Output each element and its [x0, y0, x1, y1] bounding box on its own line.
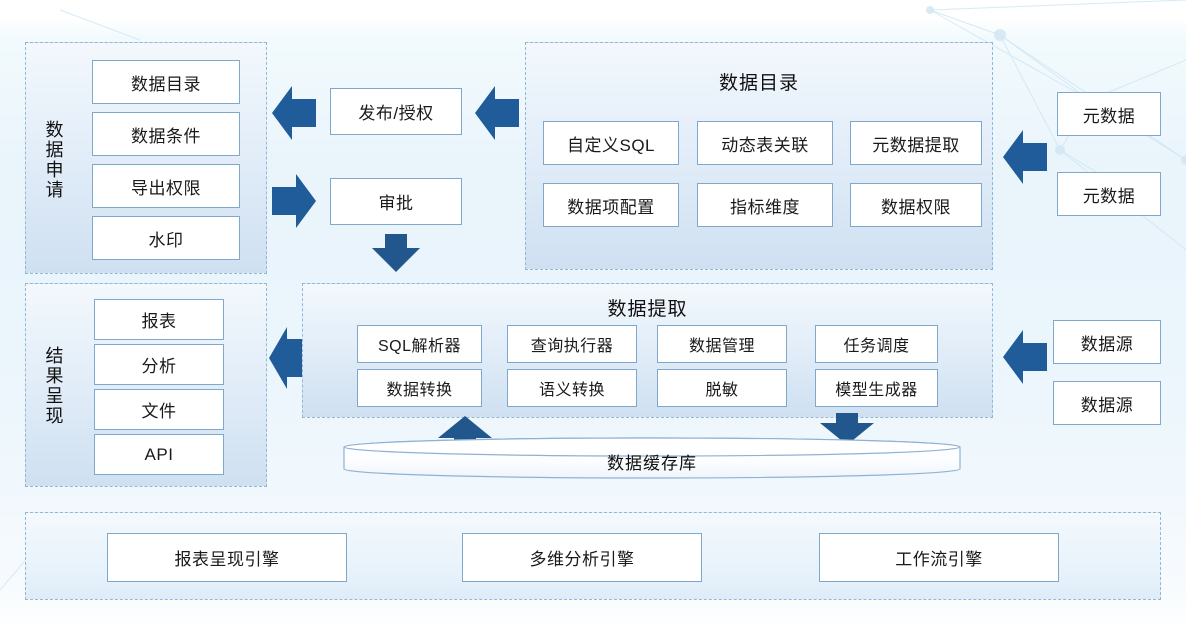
data-source-1[interactable]: 数据源 [1053, 320, 1161, 364]
data-catalog-item-data-field-config[interactable]: 数据项配置 [543, 183, 679, 227]
data-source-2[interactable]: 数据源 [1053, 381, 1161, 425]
arrow-left-to-request-top [272, 84, 316, 142]
label-char: 现 [46, 406, 65, 426]
data-request-label: 数 据 申 请 [33, 60, 77, 260]
data-extraction-item-model-generator[interactable]: 模型生成器 [815, 369, 938, 407]
arrow-right-to-approve [272, 172, 316, 230]
metadata-source-1[interactable]: 元数据 [1057, 92, 1161, 136]
result-presentation-label: 结 果 呈 现 [33, 298, 77, 474]
diagram-canvas: 数 据 申 请 数据目录 数据条件 导出权限 水印 发布/授权 审批 数据目录 … [0, 0, 1186, 630]
result-item-api[interactable]: API [94, 434, 224, 475]
data-cache-store: 数据缓存库 [343, 437, 961, 479]
data-extraction-item-data-management[interactable]: 数据管理 [657, 325, 787, 363]
label-char: 呈 [46, 386, 65, 406]
result-item-file[interactable]: 文件 [94, 389, 224, 430]
metadata-source-2[interactable]: 元数据 [1057, 172, 1161, 216]
data-request-item-data-catalog[interactable]: 数据目录 [92, 60, 240, 104]
data-extraction-item-sql-parser[interactable]: SQL解析器 [357, 325, 482, 363]
engine-workflow[interactable]: 工作流引擎 [819, 533, 1059, 582]
engine-report-rendering[interactable]: 报表呈现引擎 [107, 533, 347, 582]
engine-multidimensional-analysis[interactable]: 多维分析引擎 [462, 533, 702, 582]
data-request-item-watermark[interactable]: 水印 [92, 216, 240, 260]
label-char: 据 [46, 140, 65, 160]
publish-authorize-box[interactable]: 发布/授权 [330, 88, 462, 135]
result-item-analysis[interactable]: 分析 [94, 344, 224, 385]
data-extraction-item-semantic-transform[interactable]: 语义转换 [507, 369, 637, 407]
label-char: 果 [46, 366, 65, 386]
label-char: 请 [46, 180, 65, 200]
arrow-left-from-datasource [1003, 328, 1047, 386]
label-char: 申 [46, 160, 65, 180]
data-catalog-item-metric-dimension[interactable]: 指标维度 [697, 183, 833, 227]
data-catalog-item-dynamic-table-join[interactable]: 动态表关联 [697, 121, 833, 165]
arrow-left-from-catalog [475, 84, 519, 142]
data-catalog-item-metadata-extraction[interactable]: 元数据提取 [850, 121, 982, 165]
approve-box[interactable]: 审批 [330, 178, 462, 225]
data-extraction-item-data-transform[interactable]: 数据转换 [357, 369, 482, 407]
label-char: 数 [46, 120, 65, 140]
data-extraction-item-desensitization[interactable]: 脱敏 [657, 369, 787, 407]
data-extraction-item-query-executor[interactable]: 查询执行器 [507, 325, 637, 363]
label-char: 结 [46, 346, 65, 366]
data-cache-store-label: 数据缓存库 [343, 449, 961, 474]
data-extraction-item-task-scheduling[interactable]: 任务调度 [815, 325, 938, 363]
data-request-item-export-permission[interactable]: 导出权限 [92, 164, 240, 208]
data-catalog-item-data-permission[interactable]: 数据权限 [850, 183, 982, 227]
data-catalog-title: 数据目录 [525, 68, 993, 95]
data-extraction-title: 数据提取 [302, 294, 993, 321]
result-item-report[interactable]: 报表 [94, 299, 224, 340]
data-request-item-data-condition[interactable]: 数据条件 [92, 112, 240, 156]
data-catalog-item-custom-sql[interactable]: 自定义SQL [543, 121, 679, 165]
arrow-down-from-approve [372, 234, 420, 272]
arrow-left-from-metadata [1003, 128, 1047, 186]
